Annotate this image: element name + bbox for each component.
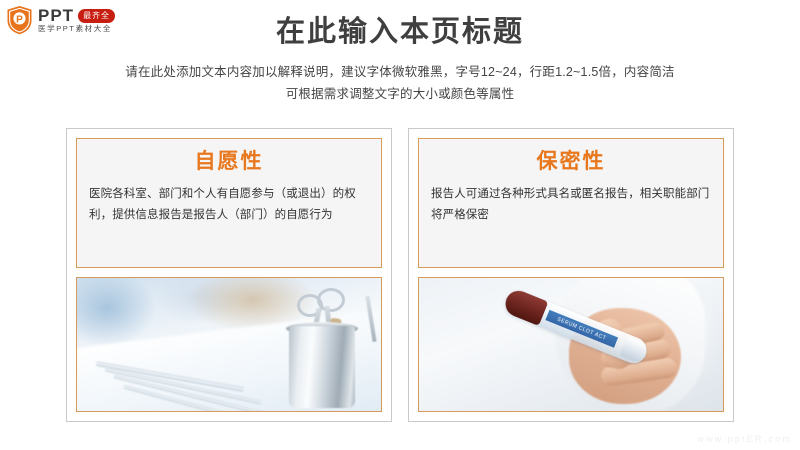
card-body: 报告人可通过各种形式具名或匿名报告，相关职能部门将严格保密 (431, 184, 711, 225)
content-cards: 自愿性 医院各科室、部门和个人有自愿参与（或退出）的权利，提供信息报告是报告人（… (66, 128, 734, 422)
card-body: 医院各科室、部门和个人有自愿参与（或退出）的权利，提供信息报告是报告人（部门）的… (89, 184, 369, 225)
page-subtitle-line-1: 请在此处添加文本内容加以解释说明，建议字体微软雅黑，字号12~24，行距1.2~… (0, 62, 800, 84)
instrument-cup-shape (289, 326, 355, 408)
card-voluntary[interactable]: 自愿性 医院各科室、部门和个人有自愿参与（或退出）的权利，提供信息报告是报告人（… (66, 128, 392, 422)
card-heading: 保密性 (431, 149, 711, 174)
card-textbox: 自愿性 医院各科室、部门和个人有自愿参与（或退出）的权利，提供信息报告是报告人（… (76, 138, 382, 268)
card-image-frame: SERUM CLOT ACT (418, 277, 724, 412)
card-heading: 自愿性 (89, 149, 369, 174)
page-subtitle: 请在此处添加文本内容加以解释说明，建议字体微软雅黑，字号12~24，行距1.2~… (0, 62, 800, 106)
watermark: www.pptER.com (697, 434, 792, 444)
surgical-instruments-photo (77, 278, 381, 411)
card-confidentiality[interactable]: 保密性 报告人可通过各种形式具名或匿名报告，相关职能部门将严格保密 SERUM … (408, 128, 734, 422)
blood-sample-tube-photo: SERUM CLOT ACT (419, 278, 723, 411)
page-title: 在此输入本页标题 (0, 14, 800, 50)
test-tube-cap-shape (502, 287, 549, 326)
card-textbox: 保密性 报告人可通过各种形式具名或匿名报告，相关职能部门将严格保密 (418, 138, 724, 268)
page-subtitle-line-2: 可根据需求调整文字的大小或颜色等属性 (0, 84, 800, 106)
card-image-frame (76, 277, 382, 412)
